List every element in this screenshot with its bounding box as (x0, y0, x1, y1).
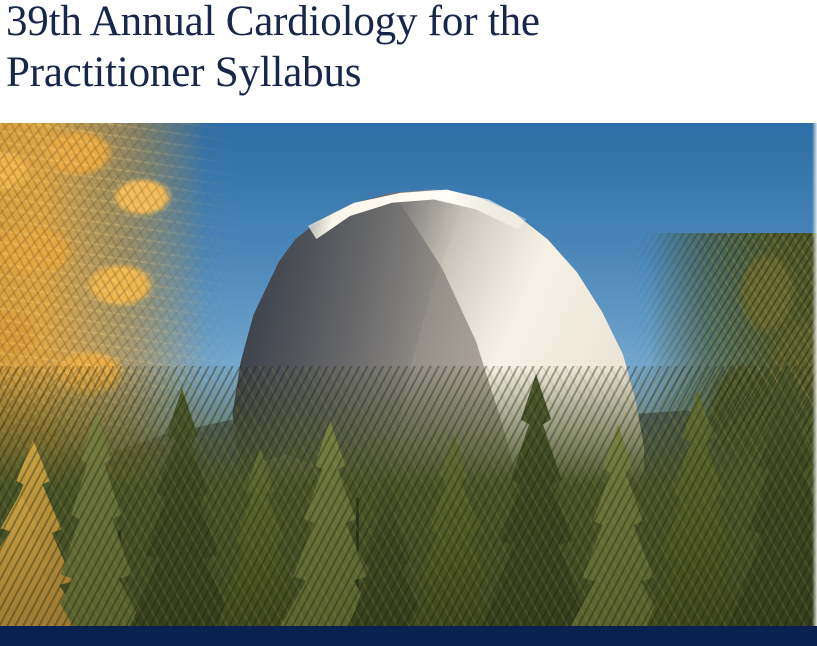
page-title: 39th Annual Cardiology for the Practitio… (6, 0, 817, 98)
photo-right-edge (812, 123, 817, 626)
footer-accent-bar (0, 626, 817, 646)
page-title-line-1: 39th Annual Cardiology for the (6, 0, 540, 45)
cover-photo (0, 123, 817, 626)
foreground-forest (0, 366, 817, 626)
forest-texture (0, 366, 817, 626)
page-header: 39th Annual Cardiology for the Practitio… (0, 0, 817, 123)
cover-page: 39th Annual Cardiology for the Practitio… (0, 0, 817, 646)
page-title-line-2: Practitioner Syllabus (6, 47, 817, 98)
